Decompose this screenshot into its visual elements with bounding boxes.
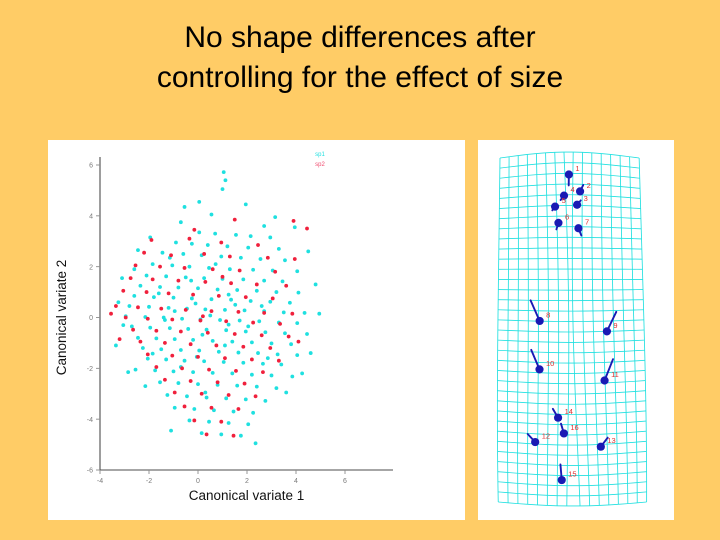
data-point [224, 328, 228, 332]
data-point [238, 269, 242, 273]
data-point [159, 307, 163, 311]
data-point [238, 319, 242, 323]
data-point [270, 374, 274, 378]
landmark-dot [560, 429, 568, 437]
landmark-label: 12 [542, 432, 550, 441]
data-point [139, 284, 143, 288]
landmark-dot [531, 438, 539, 446]
data-point [158, 285, 162, 289]
title-line-2: controlling for the effect of size [0, 58, 720, 98]
data-point [237, 407, 241, 411]
data-point [218, 318, 222, 322]
data-point [223, 356, 227, 360]
data-point [191, 370, 195, 374]
data-point [189, 342, 193, 346]
data-point [124, 316, 128, 320]
data-point [206, 243, 210, 247]
data-point [306, 250, 310, 254]
landmark-dot [536, 317, 544, 325]
data-point [234, 369, 238, 373]
data-point [139, 340, 143, 344]
data-point [206, 331, 210, 335]
data-point [131, 328, 135, 332]
data-point [261, 362, 265, 366]
grid-line-horizontal [497, 441, 646, 445]
data-point [213, 232, 217, 236]
data-point [146, 352, 150, 356]
data-point [279, 363, 283, 367]
data-point [203, 280, 207, 284]
data-point [232, 410, 236, 414]
data-point [201, 333, 205, 337]
data-point [246, 422, 250, 426]
data-point [295, 353, 299, 357]
data-point [154, 336, 158, 340]
data-point [251, 321, 255, 325]
data-point [295, 321, 299, 325]
data-point [126, 370, 130, 374]
grid-line-horizontal [498, 502, 646, 506]
data-point [216, 288, 220, 292]
data-point [184, 308, 188, 312]
data-point [167, 306, 171, 310]
landmark-label: 14 [565, 407, 573, 416]
scatter-plot-panel: -6-4-20246-4-20246 sp1sp2 Canonical vari… [48, 140, 465, 520]
data-point [214, 262, 218, 266]
data-point [188, 419, 192, 423]
data-point [229, 281, 233, 285]
data-point [169, 253, 173, 257]
data-point [203, 307, 207, 311]
data-point [211, 371, 215, 375]
data-point [189, 379, 193, 383]
landmark-dot [600, 376, 608, 384]
data-point [249, 234, 253, 238]
data-point [136, 336, 140, 340]
data-point [163, 341, 167, 345]
data-point [293, 225, 297, 229]
landmark-dot [554, 414, 562, 422]
data-point [146, 317, 150, 321]
data-point [217, 294, 221, 298]
data-point [259, 257, 263, 261]
data-point [227, 393, 231, 397]
data-point [273, 215, 277, 219]
data-point [273, 270, 277, 274]
data-point [276, 352, 280, 356]
data-point [173, 309, 177, 313]
data-point [255, 289, 259, 293]
data-point [297, 340, 301, 344]
data-point [121, 323, 125, 327]
data-point [228, 267, 232, 271]
data-point [314, 283, 318, 287]
data-point [154, 365, 158, 369]
data-point [174, 241, 178, 245]
landmark-label: 3 [584, 194, 588, 203]
data-point [197, 200, 201, 204]
data-point [309, 351, 313, 355]
landmark-dot [603, 327, 611, 335]
data-point [134, 264, 138, 268]
data-point [219, 241, 223, 245]
data-point [180, 366, 184, 370]
data-point [210, 309, 214, 313]
data-point [224, 178, 228, 182]
scatter-svg: -6-4-20246-4-20246 sp1sp2 Canonical vari… [48, 140, 465, 520]
data-point [197, 230, 201, 234]
data-point [163, 378, 167, 382]
landmark-dot [565, 170, 573, 178]
data-point [179, 348, 183, 352]
grid-line-horizontal [499, 237, 642, 239]
data-point [109, 312, 113, 316]
landmark-label: 1 [575, 164, 579, 173]
data-point [116, 300, 120, 304]
data-point [164, 358, 168, 362]
grid-line-horizontal [498, 451, 647, 455]
data-point [170, 264, 174, 268]
data-point [152, 295, 156, 299]
landmark-label: 15 [568, 470, 576, 479]
data-point [132, 267, 136, 271]
data-point [196, 286, 200, 290]
data-point [295, 269, 299, 273]
data-point [257, 319, 261, 323]
data-point [129, 276, 133, 280]
data-point [151, 277, 155, 281]
data-point [190, 242, 194, 246]
data-point [227, 421, 231, 425]
data-point [177, 286, 181, 290]
data-point [146, 357, 150, 361]
data-point [244, 397, 248, 401]
data-point [148, 326, 152, 330]
x-axis-title: Canonical variate 1 [189, 488, 305, 503]
data-point [275, 290, 279, 294]
data-point [300, 372, 304, 376]
data-point [229, 298, 233, 302]
data-point [268, 300, 272, 304]
data-point [251, 268, 255, 272]
data-point [194, 302, 198, 306]
data-point [233, 303, 237, 307]
data-point [202, 359, 206, 363]
data-point [305, 332, 309, 336]
data-point [233, 332, 237, 336]
landmark-3: 3 [573, 194, 588, 209]
data-point [173, 337, 177, 341]
data-point [249, 299, 253, 303]
data-point [172, 369, 176, 373]
data-point [261, 370, 265, 374]
data-point [159, 347, 163, 351]
data-point [216, 380, 220, 384]
data-point [288, 301, 292, 305]
data-point [191, 293, 195, 297]
data-point [188, 265, 192, 269]
data-point [268, 346, 272, 350]
data-point [243, 308, 247, 312]
x-tick-label: 0 [196, 478, 200, 485]
data-point [170, 354, 174, 358]
data-point [305, 227, 309, 231]
grid-line-horizontal [498, 300, 643, 301]
data-point [284, 391, 288, 395]
grid-line-vertical [508, 157, 510, 503]
data-point [221, 275, 225, 279]
grid-line-horizontal [498, 492, 647, 496]
data-point [168, 326, 172, 330]
data-point [292, 219, 296, 223]
data-point [223, 344, 227, 348]
landmark-13: 13 [597, 436, 616, 451]
data-point [237, 310, 241, 314]
data-point [192, 419, 196, 423]
data-point [278, 322, 282, 326]
data-point [128, 304, 132, 308]
data-point [237, 351, 241, 355]
data-point [163, 318, 167, 322]
data-point [170, 318, 174, 322]
data-point [260, 333, 264, 337]
data-point [207, 266, 211, 270]
data-point [255, 385, 259, 389]
landmark-label: 8 [546, 310, 550, 319]
grid-line-horizontal [500, 152, 639, 158]
data-point [142, 251, 146, 255]
data-point [289, 342, 293, 346]
data-point [181, 252, 185, 256]
data-point [241, 361, 245, 365]
grid-line-horizontal [498, 310, 644, 311]
data-point [250, 358, 254, 362]
data-point [199, 319, 203, 323]
data-point [200, 392, 204, 396]
grid-line-horizontal [497, 391, 645, 394]
landmark-11: 11 [600, 359, 618, 384]
grid-line-horizontal [498, 290, 643, 291]
y-tick-label: -4 [87, 417, 93, 424]
landmark-10: 10 [531, 350, 554, 374]
data-point [271, 297, 275, 301]
data-point [214, 344, 218, 348]
scatter-points-layer [109, 170, 321, 445]
data-point [263, 330, 267, 334]
data-point [211, 267, 215, 271]
data-point [207, 368, 211, 372]
y-tick-label: 2 [89, 264, 93, 271]
data-point [256, 243, 260, 247]
grid-line-horizontal [499, 205, 640, 208]
data-point [230, 340, 234, 344]
landmark-label: 9 [613, 321, 617, 330]
data-point [192, 407, 196, 411]
data-point [154, 329, 158, 333]
data-point [145, 290, 149, 294]
data-point [219, 433, 223, 437]
data-point [222, 170, 226, 174]
grid-line-horizontal [497, 381, 645, 384]
data-point [183, 405, 187, 409]
grid-line-horizontal [498, 370, 646, 373]
data-point [303, 311, 307, 315]
data-point [141, 346, 145, 350]
data-point [190, 297, 194, 301]
title-line-1: No shape differences after [0, 18, 720, 58]
grid-line-horizontal [498, 482, 647, 486]
data-point [158, 380, 162, 384]
data-point [147, 305, 151, 309]
x-tick-label: -2 [146, 478, 152, 485]
data-point [136, 305, 140, 309]
data-point [250, 373, 254, 377]
data-point [284, 284, 288, 288]
data-point [151, 352, 155, 356]
y-axis-title: Canonical variate 2 [54, 260, 69, 376]
data-point [283, 258, 287, 262]
data-point [260, 304, 264, 308]
grid-line-horizontal [498, 340, 645, 342]
data-point [221, 187, 225, 191]
data-point [202, 276, 206, 280]
data-point [157, 291, 161, 295]
data-point [262, 311, 266, 315]
data-point [244, 330, 248, 334]
grid-line-horizontal [499, 227, 641, 229]
landmark-label: 7 [585, 218, 589, 227]
data-point [114, 304, 118, 308]
data-point [118, 337, 122, 341]
data-point [263, 399, 267, 403]
data-point [223, 308, 227, 312]
data-point [121, 289, 125, 293]
data-point [151, 262, 155, 266]
data-point [217, 350, 221, 354]
data-point [153, 368, 157, 372]
landmark-dot [535, 365, 543, 373]
landmark-label: 6 [565, 212, 569, 221]
data-point [219, 255, 223, 259]
data-point [205, 396, 209, 400]
y-tick-label: 0 [89, 315, 93, 322]
grid-line-horizontal [498, 360, 645, 363]
legend-entry-sp2: sp2 [315, 162, 325, 168]
data-point [114, 344, 118, 348]
data-point [232, 434, 236, 438]
data-point [268, 236, 272, 240]
data-point [184, 275, 188, 279]
deformation-grid-svg: 12345678910111213141516 [478, 140, 674, 520]
data-point [177, 279, 181, 283]
data-point [203, 391, 207, 395]
landmark-dot [597, 443, 605, 451]
data-point [246, 325, 250, 329]
data-point [179, 220, 183, 224]
landmark-5: 5 [551, 196, 566, 211]
x-tick-label: 2 [245, 478, 249, 485]
data-point [254, 394, 258, 398]
data-point [262, 224, 266, 228]
grid-line-horizontal [500, 163, 640, 168]
data-point [287, 335, 291, 339]
data-point [241, 277, 245, 281]
data-point [243, 382, 247, 386]
x-tick-label: -4 [97, 478, 103, 485]
data-point [180, 317, 184, 321]
x-tick-label: 6 [343, 478, 347, 485]
x-tick-label: 4 [294, 478, 298, 485]
data-point [219, 420, 223, 424]
data-point [239, 256, 243, 260]
data-point [222, 360, 226, 364]
data-point [290, 375, 294, 379]
data-point [207, 420, 211, 424]
data-point [241, 345, 245, 349]
data-point [143, 384, 147, 388]
grid-line-horizontal [498, 350, 645, 353]
data-point [202, 252, 206, 256]
data-point [251, 411, 255, 415]
grid-line-horizontal [498, 462, 647, 466]
data-point [227, 293, 231, 297]
data-point [210, 297, 214, 301]
data-point [183, 205, 187, 209]
grid-line-horizontal [499, 195, 640, 199]
data-point [205, 433, 209, 437]
data-point [262, 279, 266, 283]
data-point [234, 233, 238, 237]
data-point [227, 323, 231, 327]
data-point [167, 291, 171, 295]
landmark-label: 16 [570, 423, 578, 432]
data-point [230, 372, 234, 376]
landmark-dot [573, 201, 581, 209]
data-point [244, 295, 248, 299]
data-point [275, 386, 279, 390]
data-point [185, 394, 189, 398]
landmark-label: 13 [607, 436, 615, 445]
data-point [183, 359, 187, 363]
landmark-dot [554, 219, 562, 227]
data-point [179, 330, 183, 334]
data-point [235, 384, 239, 388]
data-point [290, 312, 294, 316]
y-tick-label: 6 [89, 163, 93, 170]
data-point [228, 255, 232, 259]
scatter-series-sp1 [114, 170, 321, 445]
data-point [150, 238, 154, 242]
data-point [183, 266, 187, 270]
y-tick-label: -2 [87, 366, 93, 373]
data-point [210, 406, 214, 410]
data-point [210, 213, 214, 217]
grid-line-vertical [518, 156, 519, 504]
data-point [161, 251, 165, 255]
data-point [134, 368, 138, 372]
landmark-dot [558, 476, 566, 484]
data-point [255, 283, 259, 287]
data-point [246, 246, 250, 250]
grid-line-horizontal [499, 248, 642, 249]
landmark-dot [551, 203, 559, 211]
landmark-1: 1 [565, 164, 580, 185]
grid-line-horizontal [498, 320, 644, 322]
landmark-label: 2 [587, 181, 591, 190]
data-point [235, 288, 239, 292]
data-point [136, 248, 140, 252]
landmark-label: 5 [562, 196, 566, 205]
